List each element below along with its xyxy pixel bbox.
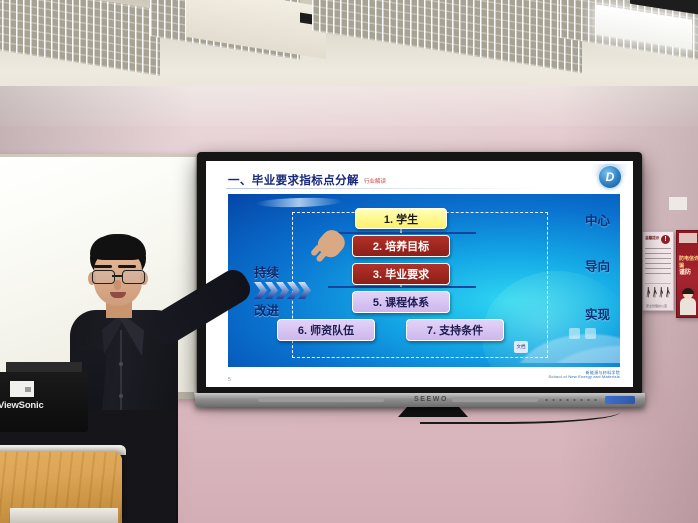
presenter-nose [114,280,121,290]
monitor-stand-badge [10,381,34,397]
left-label-top: 持续 [254,262,279,281]
warning-icon [661,235,670,244]
poster-header-band [679,233,697,243]
diagram-node-student[interactable]: 1. 学生 [355,208,447,229]
connector-line-lower [328,286,476,288]
slide-title: 一、毕业要求指标点分解 [228,172,359,188]
presenter-hair-front [90,236,146,260]
safety-notice-title: 温馨提示 [645,236,659,241]
right-label-0: 中心 [585,210,610,229]
diagram-node-faculty[interactable]: 6. 师资队伍 [277,319,375,341]
watermark-badge: 文档 [514,341,528,353]
wall-socket[interactable] [668,196,688,211]
university-logo-icon [599,166,621,188]
title-divider [226,188,542,189]
monitor-brand-label: ViewSonic [0,400,44,411]
podium-base [10,508,118,523]
diagram-node-curriculum-system[interactable]: 5. 课程体系 [352,291,450,313]
ceiling [0,0,698,92]
poster-line-2: 谨防 [679,267,691,276]
presenter-eyebrow [94,265,112,268]
safety-notice-text [645,248,671,278]
safety-pictograms [645,283,671,300]
interactive-flat-panel[interactable]: 一、毕业要求指标点分解 行业解读 持续 改进 中心 导向 [197,152,642,395]
poster-figure-illustration [680,289,696,315]
presenter-eyebrow [118,265,136,268]
safety-notice-footer: 安全管理办公室 [646,304,667,308]
slide-diagram-canvas: 持续 改进 中心 导向 实现 [228,194,620,367]
right-label-2: 实现 [585,304,610,323]
safety-notice-sign: 温馨提示 安全管理办公室 [642,231,674,311]
footer-english: School of New Energy and Materials [549,375,621,380]
anti-fraud-poster: 防电信诈骗 谨防 [676,230,698,318]
screen-glare [256,197,342,208]
presentation-slide: 一、毕业要求指标点分解 行业解读 持续 改进 中心 导向 [206,161,633,387]
display-screen[interactable]: 一、毕业要求指标点分解 行业解读 持续 改进 中心 导向 [206,161,633,387]
slide-control-buttons[interactable] [569,328,596,339]
improvement-arrows-icon [254,282,312,299]
diagram-node-training-objective[interactable]: 2. 培养目标 [352,235,450,257]
right-label-1: 导向 [585,256,610,275]
slide-footer: 新能源与材料学院 School of New Energy and Materi… [549,371,621,380]
speaker-grille [452,397,538,402]
connector-line-upper [328,232,476,234]
speaker-grille [258,397,384,402]
bezel-buttons[interactable] [543,397,598,403]
diagram-node-graduation-requirement[interactable]: 3. 毕业要求 [352,263,450,285]
ceiling-light-panel [0,0,160,76]
left-label-bottom: 改进 [254,300,279,319]
ceiling-light-panel [312,0,582,73]
slide-subtitle: 行业解读 [364,177,386,185]
diagram-node-support-conditions[interactable]: 7. 支持条件 [406,319,504,341]
classroom-photo: 温馨提示 安全管理办公室 防电信诈骗 谨防 一、毕业要求指标点分解 行业解读 [0,0,698,523]
slide-page-number: 5 [228,377,231,383]
power-indicator-icon [605,396,635,404]
